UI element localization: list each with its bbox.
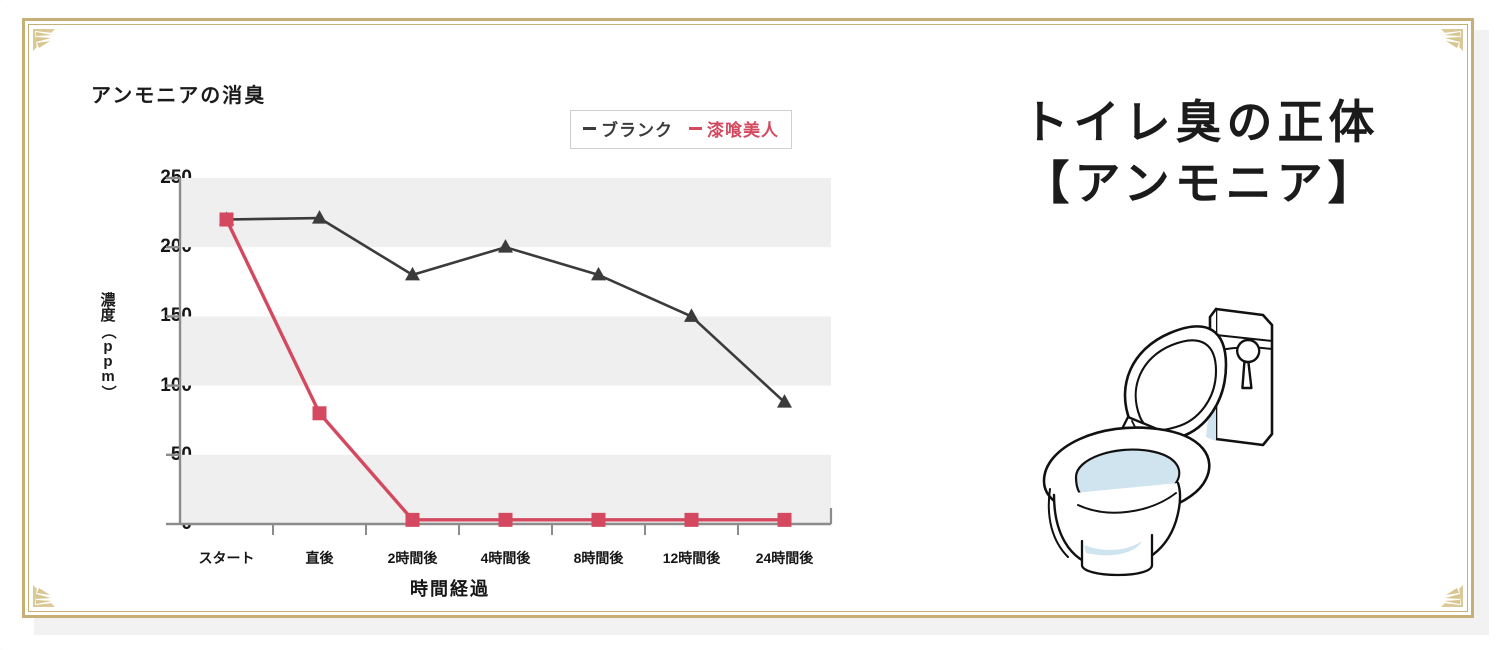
x-tick-label: 4時間後: [481, 548, 531, 568]
right-panel: トイレ臭の正体 【アンモニア】: [925, 21, 1477, 621]
x-axis-label: 時間経過: [410, 575, 490, 601]
x-tick-label: 2時間後: [388, 548, 438, 568]
x-tick-label: 直後: [306, 548, 334, 568]
page-headline: トイレ臭の正体 【アンモニア】: [925, 93, 1477, 214]
x-tick-label: 8時間後: [574, 548, 624, 568]
toilet-illustration-icon: [1020, 269, 1340, 579]
x-tick-label: 12時間後: [663, 548, 721, 568]
page-root: アンモニアの消臭 ブランク 漆喰美人 濃 度 （ p p m ）: [0, 0, 1500, 650]
data-point-marker: [220, 213, 234, 227]
data-point-marker: [592, 513, 606, 527]
x-tick-label: 24時間後: [756, 548, 814, 568]
data-point-marker: [685, 513, 699, 527]
data-point-marker: [313, 406, 327, 420]
chart-plot-area: [25, 21, 925, 621]
headline-line-1: トイレ臭の正体: [925, 93, 1477, 154]
decorative-frame: アンモニアの消臭 ブランク 漆喰美人 濃 度 （ p p m ）: [22, 18, 1474, 618]
x-tick-label: スタート: [199, 548, 255, 568]
data-point-marker: [778, 513, 792, 527]
grid-band: [180, 178, 831, 247]
data-point-marker: [499, 513, 513, 527]
data-point-marker: [406, 513, 420, 527]
chart-panel: アンモニアの消臭 ブランク 漆喰美人 濃 度 （ p p m ）: [25, 21, 925, 621]
headline-line-2: 【アンモニア】: [925, 154, 1477, 215]
